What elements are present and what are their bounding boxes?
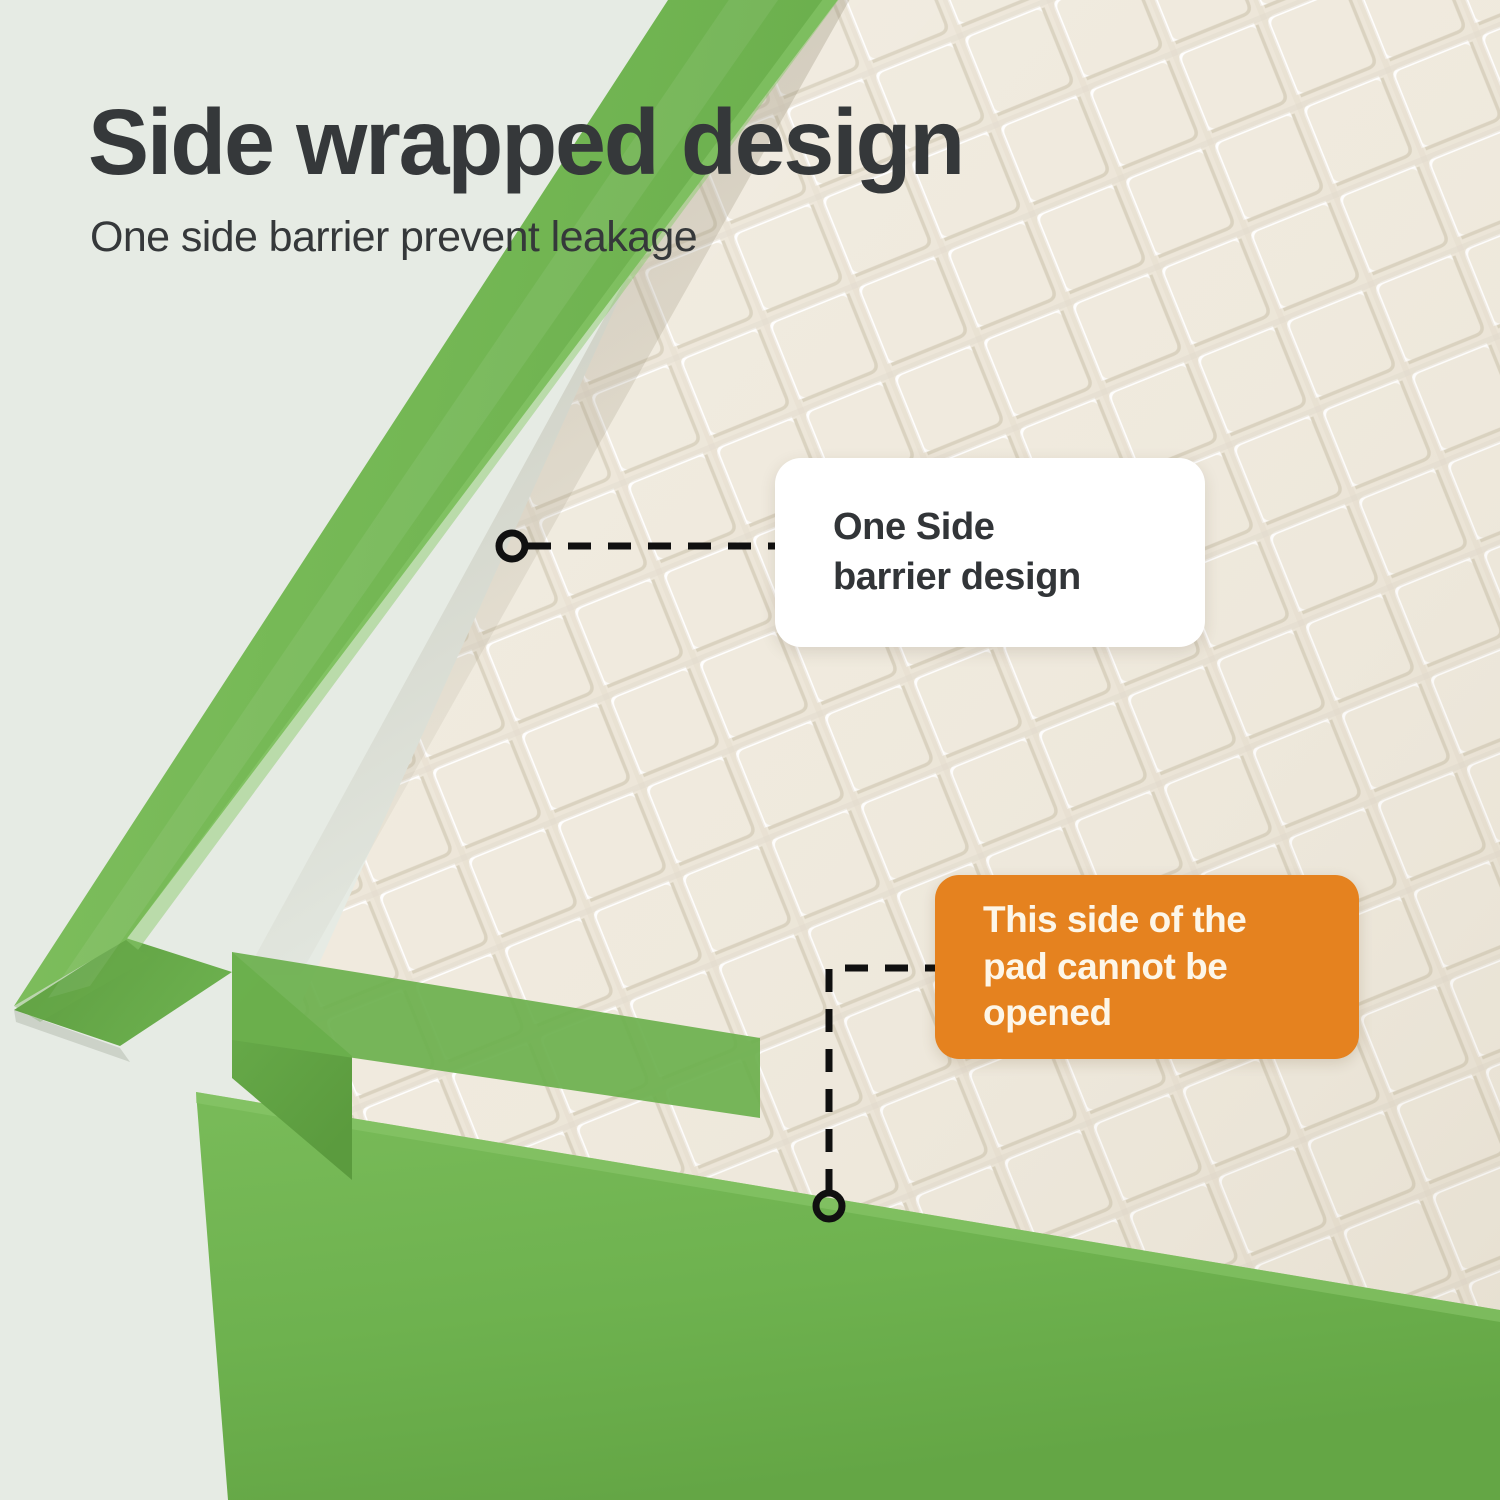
- callout-orange-line-1: This side of the: [983, 897, 1311, 944]
- product-infographic: Side wrapped design One side barrier pre…: [0, 0, 1500, 1500]
- callout-orange-line-2: pad cannot be: [983, 944, 1311, 991]
- callout-orange-line-3: opened: [983, 990, 1311, 1037]
- product-photo-scene: [0, 0, 1500, 1500]
- callout-white-line-2: barrier design: [833, 553, 1147, 602]
- callout-pad-cannot-be-opened: This side of the pad cannot be opened: [935, 875, 1359, 1059]
- callout-one-side-barrier-design: One Side barrier design: [775, 458, 1205, 647]
- callout-white-line-1: One Side: [833, 503, 1147, 552]
